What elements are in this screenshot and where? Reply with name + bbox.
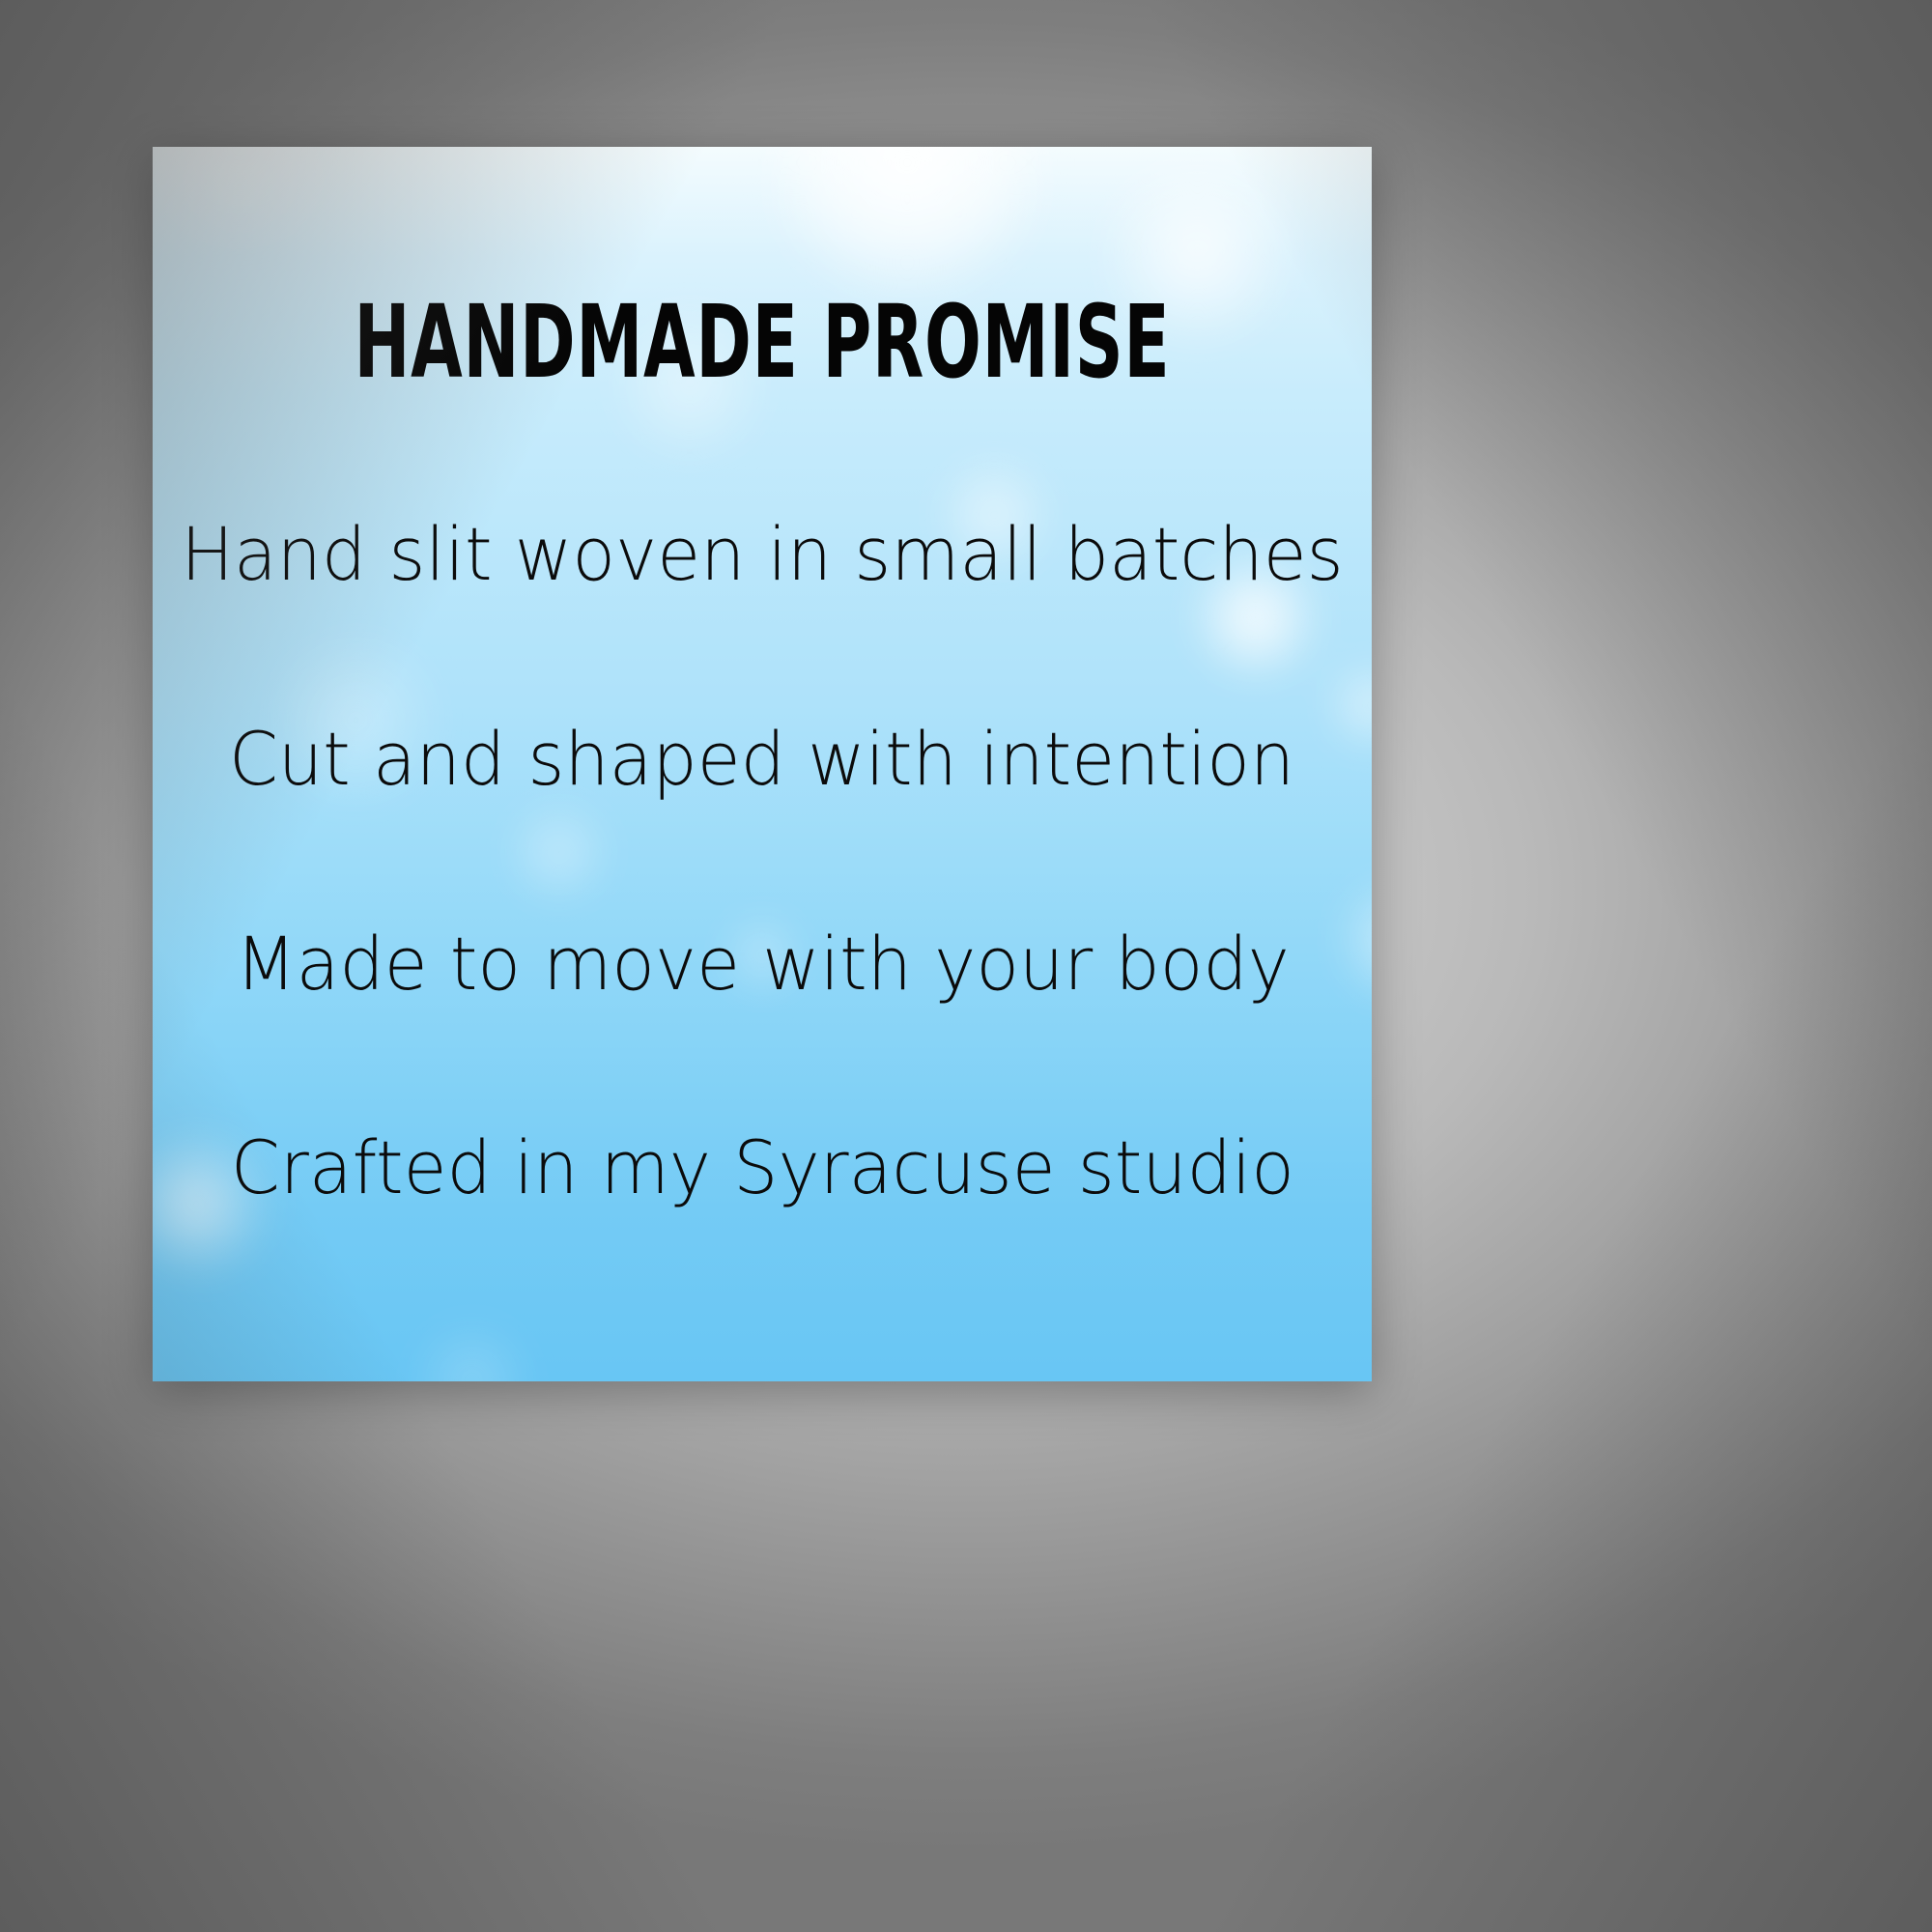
list-item: Made to move with your body [235,925,1289,1003]
promise-card: HANDMADE PROMISE Hand slit woven in smal… [153,147,1372,1381]
card-content: HANDMADE PROMISE Hand slit woven in smal… [153,147,1372,1381]
promise-list: Hand slit woven in small batches Cut and… [153,516,1372,1207]
page-title: HANDMADE PROMISE [355,292,1171,392]
poster-canvas: HANDMADE PROMISE Hand slit woven in smal… [0,0,1932,1932]
list-item: Hand slit woven in small batches [181,516,1344,593]
list-item: Crafted in my Syracuse studio [231,1129,1294,1207]
list-item: Cut and shaped with intention [229,721,1294,798]
